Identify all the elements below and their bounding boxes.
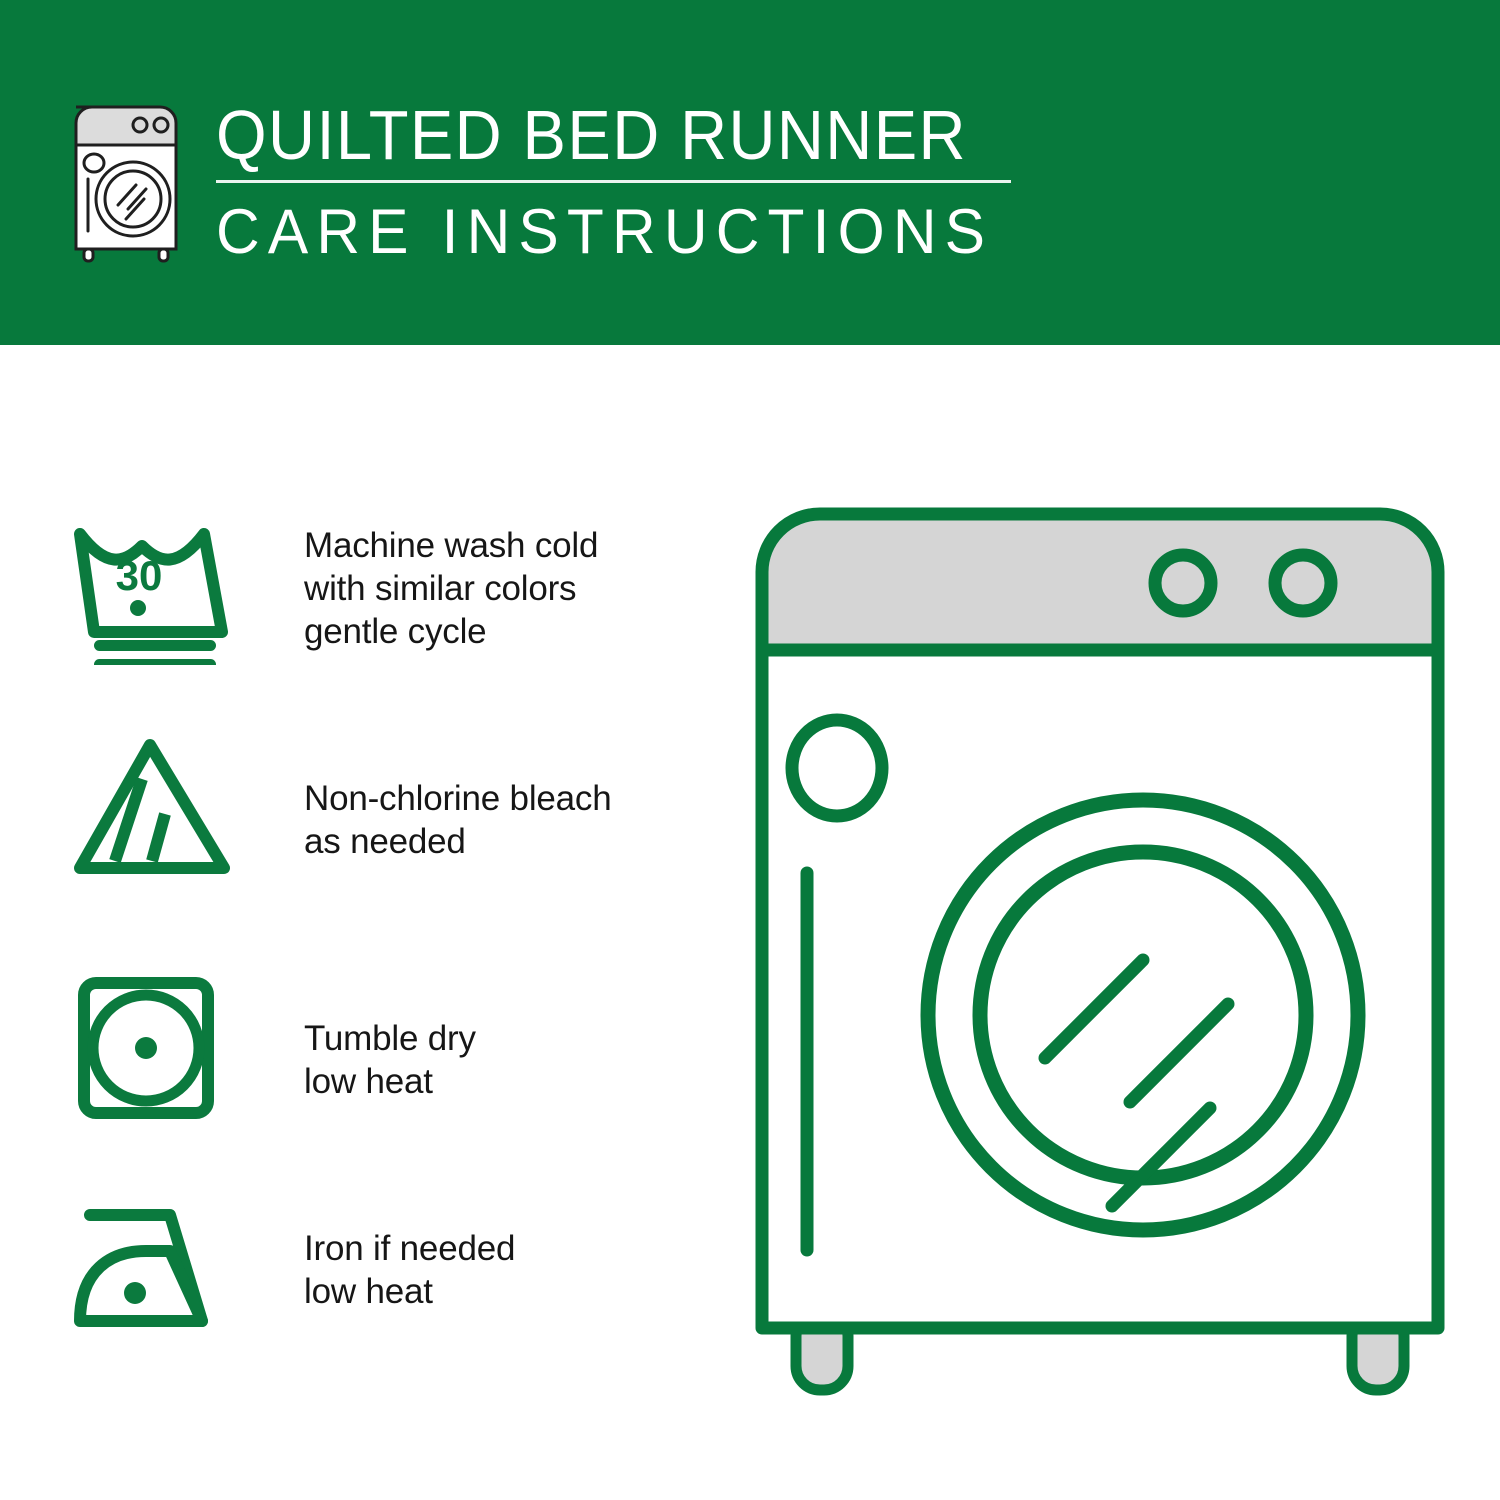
care-text-tumble-dry: Tumble dry low heat [304, 1017, 476, 1103]
care-row-bleach: Non-chlorine bleach as needed [72, 735, 612, 880]
care-text-iron: Iron if needed low heat [304, 1227, 515, 1313]
care-row-iron: Iron if needed low heat [72, 1193, 515, 1338]
wash-tub-30-icon: 30 [72, 520, 242, 665]
page-subtitle: CARE INSTRUCTIONS [216, 197, 994, 267]
control-knob-right [1275, 555, 1331, 611]
care-text-bleach: Non-chlorine bleach as needed [304, 777, 612, 863]
page-title: QUILTED BED RUNNER [216, 96, 969, 174]
washing-machine-icon [62, 103, 192, 263]
title-divider [216, 180, 1011, 183]
control-knob-left [1155, 555, 1211, 611]
care-row-tumble-dry: Tumble dry low heat [72, 975, 476, 1120]
care-text-wash: Machine wash cold with similar colors ge… [304, 524, 598, 653]
care-instructions-page: QUILTED BED RUNNER CARE INSTRUCTIONS 30 [0, 0, 1500, 1500]
care-row-wash: 30 Machine wash cold with similar colors… [72, 520, 598, 665]
tumble-dry-low-icon [72, 975, 242, 1120]
non-chlorine-bleach-triangle-icon [72, 735, 242, 880]
washing-machine-illustration [740, 490, 1460, 1420]
care-instruction-list: 30 Machine wash cold with similar colors… [0, 345, 700, 1500]
iron-low-heat-icon [72, 1193, 242, 1338]
header-text-block: QUILTED BED RUNNER CARE INSTRUCTIONS [216, 96, 1026, 267]
header-banner: QUILTED BED RUNNER CARE INSTRUCTIONS [0, 0, 1500, 345]
wash-temperature-label: 30 [116, 552, 163, 599]
